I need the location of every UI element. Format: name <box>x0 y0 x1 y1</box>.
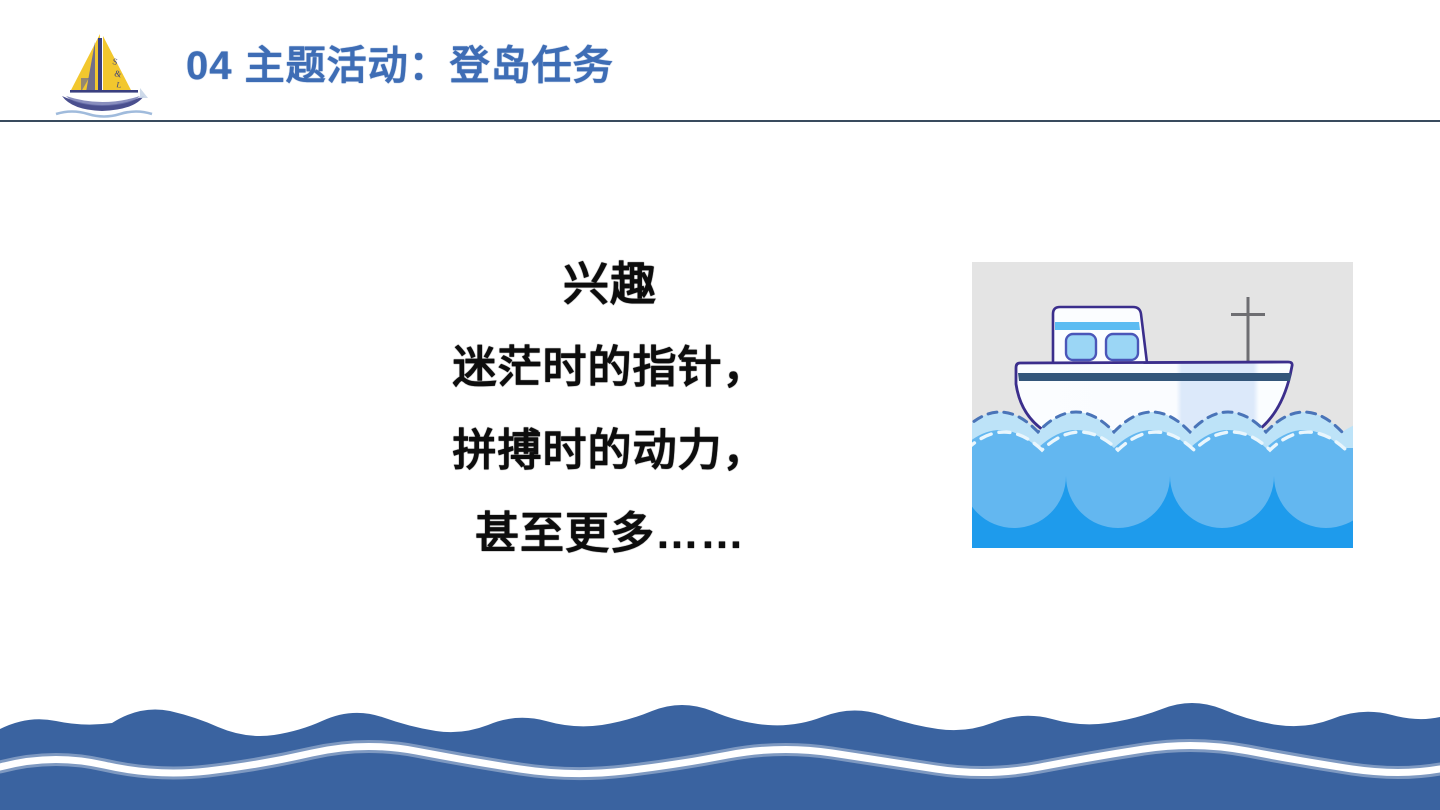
poem-text-block: 兴趣 迷茫时的指针， 拼搏时的动力， 甚至更多…… <box>330 243 890 575</box>
decorative-wave-band <box>0 695 1440 810</box>
poem-line: 甚至更多…… <box>330 492 890 575</box>
sailboat-logo-icon: S & L <box>48 26 156 121</box>
header-divider <box>0 120 1440 122</box>
poem-line: 兴趣 <box>330 243 890 326</box>
slide-canvas: S & L 04 主题活动：登岛任务 兴趣 迷茫时的指针， 拼搏时的动力， 甚至… <box>0 0 1440 810</box>
boat-on-waves-illustration <box>972 262 1353 548</box>
slide-header: S & L 04 主题活动：登岛任务 <box>0 0 1440 121</box>
poem-line: 拼搏时的动力， <box>330 409 890 492</box>
poem-line: 迷茫时的指针， <box>330 326 890 409</box>
page-title: 04 主题活动：登岛任务 <box>186 36 614 96</box>
